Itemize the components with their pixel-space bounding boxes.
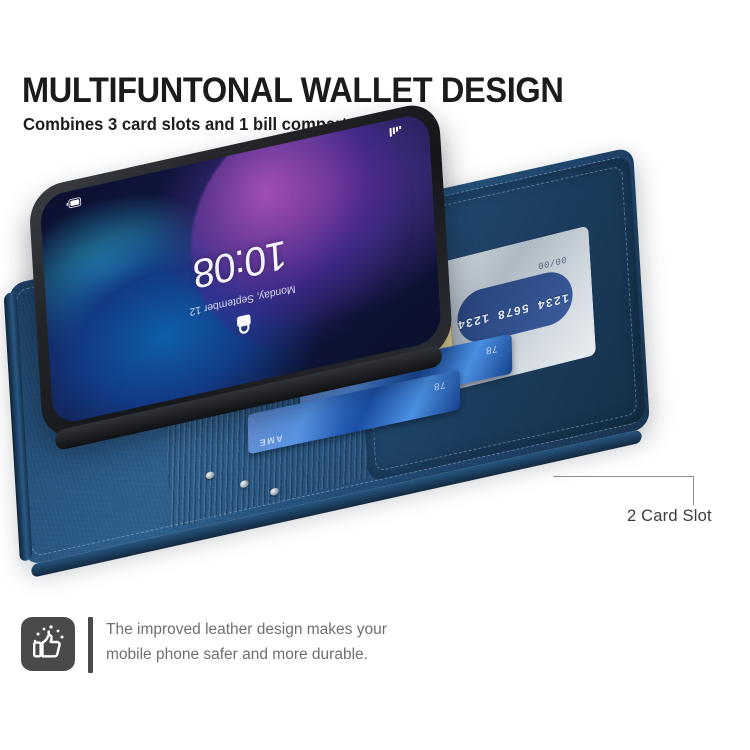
callout-leader-vertical [693,476,694,505]
product-infographic: MULTIFUNTONAL WALLET DESIGN Combines 3 c… [0,0,750,750]
lock-icon [235,307,253,336]
page-title: MULTIFUNTONAL WALLET DESIGN [22,71,563,111]
card-expiry-text: 00/00 [537,254,566,271]
caption-text: The improved leather design makes your m… [106,617,436,667]
caption-divider [88,617,93,673]
callout-label: 2 Card Slot [627,507,712,526]
thumbs-up-icon [21,617,75,671]
callout-leader-horizontal [553,476,694,477]
